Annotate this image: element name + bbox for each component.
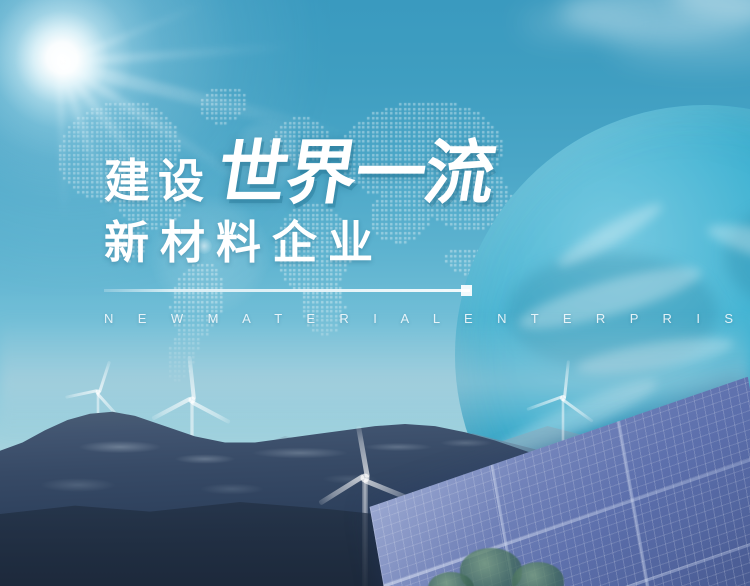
headline-prefix: 建设	[104, 158, 212, 208]
hero-text-block: 建设 世界一流 新材料企业 N E W M A T E R I A L E N …	[104, 132, 624, 326]
subtitle-english: N E W M A T E R I A L E N T E R P R I S …	[104, 311, 624, 326]
divider-end-cap	[461, 285, 472, 296]
headline-row: 建设 世界一流	[104, 132, 624, 208]
hero-banner: 建设 世界一流 新材料企业 N E W M A T E R I A L E N …	[0, 0, 750, 586]
headline-divider	[104, 289, 470, 292]
headline-line-two: 新材料企业	[104, 220, 624, 265]
headline-emphasis: 世界一流	[212, 138, 499, 208]
cloud-wisp	[520, 8, 640, 38]
